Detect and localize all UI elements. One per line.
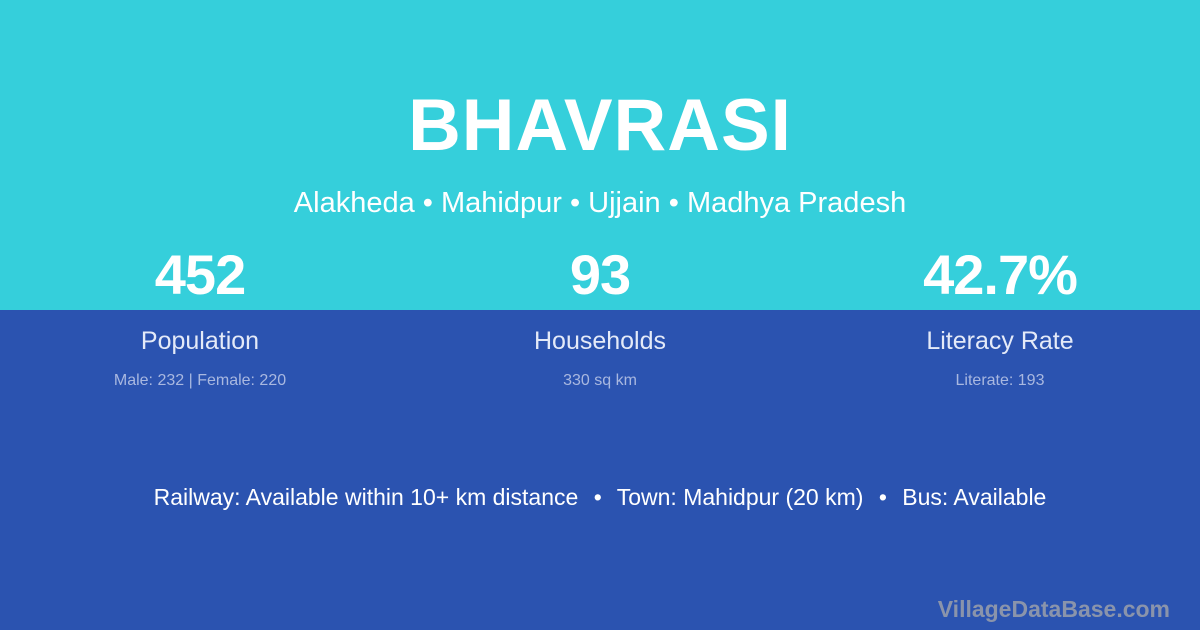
- stat-value-households: 93: [400, 247, 800, 309]
- page-title: BHAVRASI: [0, 0, 1200, 162]
- stat-value-literacy-rate: 42.7%: [800, 247, 1200, 309]
- stat-label-households: Households: [400, 309, 800, 354]
- transport-info-line: Railway: Available within 10+ km distanc…: [0, 486, 1200, 509]
- stat-sub-literacy-rate: Literate: 193: [800, 354, 1200, 389]
- site-watermark: VillageDataBase.com: [938, 598, 1170, 621]
- card-header: BHAVRASI Alakheda • Mahidpur • Ujjain • …: [0, 0, 1200, 218]
- stat-households: 93 Households 330 sq km: [400, 247, 800, 389]
- info-town: Town: Mahidpur (20 km): [617, 484, 864, 510]
- stat-literacy-rate: 42.7% Literacy Rate Literate: 193: [800, 247, 1200, 389]
- stat-label-population: Population: [0, 309, 400, 354]
- stat-sub-population: Male: 232 | Female: 220: [0, 354, 400, 389]
- village-info-card: BHAVRASI Alakheda • Mahidpur • Ujjain • …: [0, 0, 1200, 630]
- stat-population: 452 Population Male: 232 | Female: 220: [0, 247, 400, 389]
- stat-sub-households: 330 sq km: [400, 354, 800, 389]
- info-bus: Bus: Available: [902, 484, 1046, 510]
- stat-label-literacy-rate: Literacy Rate: [800, 309, 1200, 354]
- stats-row: 452 Population Male: 232 | Female: 220 9…: [0, 247, 1200, 389]
- bullet-separator-icon: •: [870, 484, 896, 510]
- stat-value-population: 452: [0, 247, 400, 309]
- bullet-separator-icon: •: [585, 484, 611, 510]
- breadcrumb: Alakheda • Mahidpur • Ujjain • Madhya Pr…: [0, 162, 1200, 218]
- info-railway: Railway: Available within 10+ km distanc…: [154, 484, 579, 510]
